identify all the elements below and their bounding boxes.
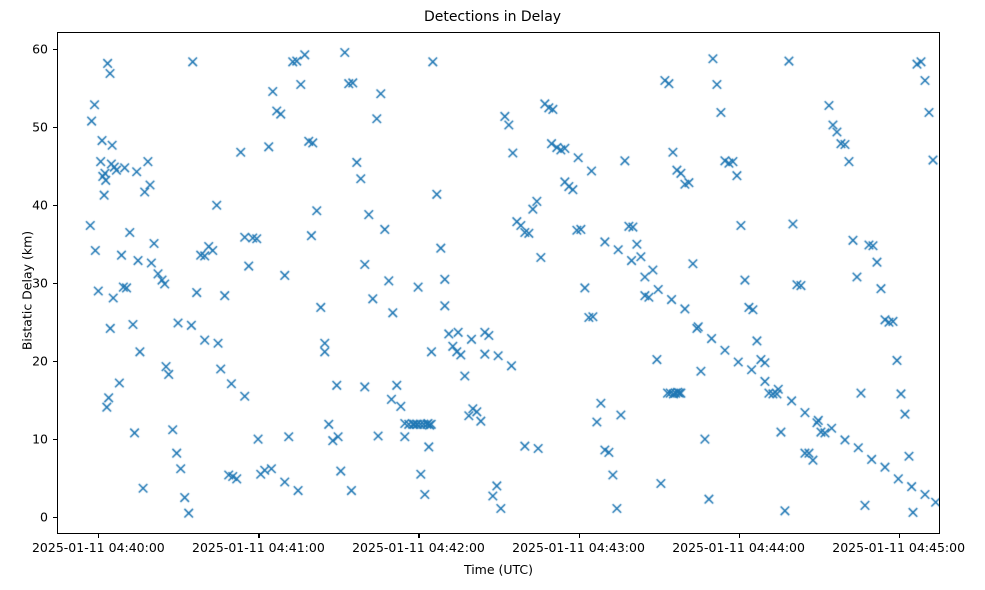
x-tick-mark (418, 534, 419, 538)
x-tick-label: 2025-01-11 04:43:00 (512, 540, 645, 555)
x-tick-label: 2025-01-11 04:40:00 (32, 540, 165, 555)
y-axis-label: Bistatic Delay (km) (20, 161, 35, 421)
x-axis-label: Time (UTC) (57, 562, 940, 577)
page-title: Detections in Delay (0, 8, 985, 26)
y-tick-mark (53, 361, 57, 362)
y-tick-mark (53, 127, 57, 128)
x-tick-mark (579, 534, 580, 538)
matplotlib-figure: Detections in Delay 2025-01-11 04:40:002… (0, 0, 985, 590)
x-tick-mark (98, 534, 99, 538)
y-tick-mark (53, 439, 57, 440)
y-tick-label: 60 (8, 42, 48, 57)
y-tick-label: 0 (8, 509, 48, 524)
x-tick-label: 2025-01-11 04:41:00 (192, 540, 325, 555)
y-tick-mark (53, 283, 57, 284)
x-tick-label: 2025-01-11 04:45:00 (832, 540, 965, 555)
scatter-plot-canvas (58, 33, 940, 534)
x-tick-label: 2025-01-11 04:42:00 (352, 540, 485, 555)
x-tick-mark (899, 534, 900, 538)
y-tick-mark (53, 49, 57, 50)
y-tick-mark (53, 205, 57, 206)
x-tick-mark (258, 534, 259, 538)
y-tick-label: 50 (8, 120, 48, 135)
plot-axes (57, 32, 940, 534)
x-tick-label: 2025-01-11 04:44:00 (672, 540, 805, 555)
y-tick-mark (53, 517, 57, 518)
x-tick-mark (739, 534, 740, 538)
y-tick-label: 10 (8, 431, 48, 446)
